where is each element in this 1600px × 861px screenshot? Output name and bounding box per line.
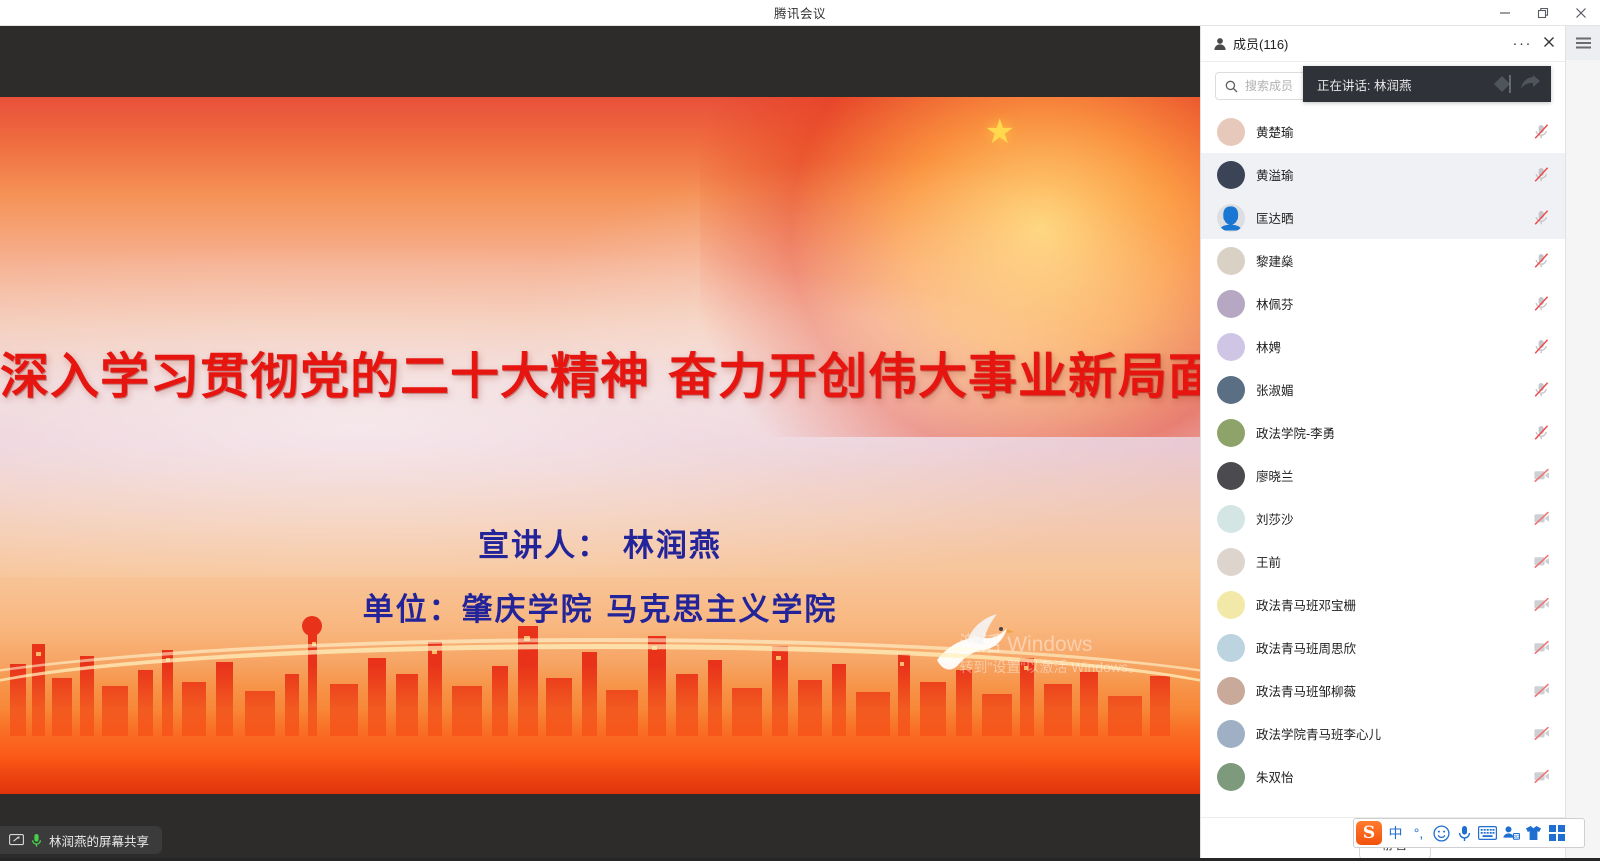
- avatar: [1217, 548, 1245, 576]
- mic-muted-icon[interactable]: [1533, 424, 1551, 442]
- avatar: [1217, 161, 1245, 189]
- ime-skin-button[interactable]: [1524, 821, 1543, 845]
- speaking-indicator-overlay: 正在讲话: 林润燕: [1303, 66, 1551, 102]
- participant-row[interactable]: 张淑媚: [1201, 368, 1565, 411]
- camera-off-icon[interactable]: [1533, 510, 1551, 528]
- participants-panel: 成员(116) ··· 黄楚瑜: [1200, 26, 1565, 861]
- camera-off-icon[interactable]: [1533, 596, 1551, 614]
- participant-row[interactable]: 政法青马班邓宝栅: [1201, 583, 1565, 626]
- participant-row[interactable]: 廖晓兰: [1201, 454, 1565, 497]
- avatar: [1217, 376, 1245, 404]
- person-icon: [1213, 37, 1227, 51]
- camera-off-icon[interactable]: [1533, 725, 1551, 743]
- participant-name: 政法青马班邹柳薇: [1256, 681, 1356, 700]
- right-side-strip: [1565, 26, 1600, 861]
- participant-row[interactable]: 林佩芬: [1201, 282, 1565, 325]
- sogou-logo-icon[interactable]: S: [1356, 821, 1382, 845]
- window-title: 腾讯会议: [774, 3, 826, 22]
- avatar: [1217, 763, 1245, 791]
- restore-button[interactable]: [1524, 0, 1562, 26]
- participant-row[interactable]: 政法青马班邹柳薇: [1201, 669, 1565, 712]
- mic-muted-icon[interactable]: [1533, 381, 1551, 399]
- slide-swoosh-2: [0, 638, 1200, 788]
- speaking-text: 正在讲话: 林润燕: [1317, 75, 1411, 94]
- participant-row[interactable]: 黎建燊: [1201, 239, 1565, 282]
- camera-off-icon[interactable]: [1533, 639, 1551, 657]
- participant-row[interactable]: 政法学院青马班李心儿: [1201, 712, 1565, 755]
- camera-off-icon[interactable]: [1533, 682, 1551, 700]
- camera-off-icon[interactable]: [1533, 768, 1551, 786]
- avatar: [1217, 247, 1245, 275]
- participant-row[interactable]: 林娉: [1201, 325, 1565, 368]
- participant-row[interactable]: 黄溢瑜: [1201, 153, 1565, 196]
- participant-name: 政法青马班邓宝栅: [1256, 595, 1356, 614]
- participant-name: 王前: [1256, 552, 1281, 571]
- avatar: [1217, 505, 1245, 533]
- hamburger-icon[interactable]: [1566, 26, 1600, 60]
- mic-muted-icon[interactable]: [1533, 123, 1551, 141]
- slide-mist-decoration-2: [520, 157, 1200, 477]
- panel-header-actions: ···: [1513, 35, 1556, 53]
- avatar: [1217, 677, 1245, 705]
- ime-user-profile-button[interactable]: 2D: [1501, 821, 1520, 845]
- microphone-icon: [31, 833, 42, 848]
- mic-muted-icon[interactable]: [1533, 166, 1551, 184]
- presentation-slide: ★ 深入学习贯彻党的二十大精神 奋力开创伟大事业新局面 宣讲人： 林润燕 单位：…: [0, 97, 1200, 794]
- speaking-overlay-icons: [1489, 71, 1543, 97]
- avatar: [1217, 118, 1245, 146]
- ime-voice-input-button[interactable]: [1455, 821, 1474, 845]
- avatar: 👤: [1217, 204, 1245, 232]
- participant-name: 政法学院青马班李心儿: [1256, 724, 1381, 743]
- participant-name: 黎建燊: [1256, 251, 1294, 270]
- minimize-button[interactable]: [1486, 0, 1524, 26]
- star-icon: ★: [985, 115, 1015, 149]
- ime-toolbox-button[interactable]: [1547, 821, 1566, 845]
- svg-text:2D: 2D: [1513, 834, 1519, 839]
- mic-muted-icon[interactable]: [1533, 209, 1551, 227]
- avatar: [1217, 290, 1245, 318]
- mic-muted-icon[interactable]: [1533, 295, 1551, 313]
- meeting-window: 腾讯会议 ★ 深入: [0, 0, 1600, 861]
- participant-name: 匡达晒: [1256, 208, 1294, 227]
- avatar: [1217, 462, 1245, 490]
- avatar: [1217, 333, 1245, 361]
- participant-row[interactable]: 👤匡达晒: [1201, 196, 1565, 239]
- participant-row[interactable]: 王前: [1201, 540, 1565, 583]
- ime-chinese-mode-button[interactable]: 中: [1386, 821, 1405, 845]
- collapse-arrow-icon[interactable]: [1489, 71, 1515, 97]
- ime-soft-keyboard-button[interactable]: [1478, 821, 1497, 845]
- screen-share-icon: [9, 834, 24, 847]
- search-icon: [1225, 80, 1238, 93]
- participant-name: 刘莎沙: [1256, 509, 1294, 528]
- avatar: [1217, 591, 1245, 619]
- participant-row[interactable]: 政法学院-李勇: [1201, 411, 1565, 454]
- ime-emoji-button[interactable]: [1432, 821, 1451, 845]
- participant-name: 廖晓兰: [1256, 466, 1294, 485]
- panel-close-button[interactable]: [1543, 35, 1555, 53]
- slide-speaker-line: 宣讲人： 林润燕: [0, 520, 1200, 565]
- participant-name: 张淑媚: [1256, 380, 1294, 399]
- participant-row[interactable]: 朱双怡: [1201, 755, 1565, 798]
- participants-list[interactable]: 黄楚瑜 黄溢瑜 👤匡达晒 黎建燊 林佩芬 林娉: [1201, 110, 1565, 817]
- back-arrow-icon[interactable]: [1517, 71, 1543, 97]
- participant-name: 林娉: [1256, 337, 1281, 356]
- participants-count-title: 成员(116): [1233, 34, 1288, 53]
- ime-toolbar[interactable]: S 中 °,: [1353, 818, 1585, 848]
- share-label: 林润燕的屏幕共享: [49, 831, 149, 850]
- participant-name: 黄溢瑜: [1256, 165, 1294, 184]
- avatar: [1217, 720, 1245, 748]
- window-controls: [1486, 0, 1600, 26]
- participant-row[interactable]: 刘莎沙: [1201, 497, 1565, 540]
- more-options-button[interactable]: ···: [1513, 36, 1533, 51]
- camera-off-icon[interactable]: [1533, 553, 1551, 571]
- mic-muted-icon[interactable]: [1533, 338, 1551, 356]
- slide-headline: 深入学习贯彻党的二十大精神 奋力开创伟大事业新局面: [0, 337, 1200, 408]
- title-bar: 腾讯会议: [0, 0, 1600, 26]
- participant-name: 黄楚瑜: [1256, 122, 1294, 141]
- participant-name: 政法学院-李勇: [1256, 423, 1335, 442]
- shared-screen-stage[interactable]: ★ 深入学习贯彻党的二十大精神 奋力开创伟大事业新局面 宣讲人： 林润燕 单位：…: [0, 26, 1200, 861]
- participants-panel-header: 成员(116) ···: [1201, 26, 1565, 62]
- ime-punctuation-button[interactable]: °,: [1409, 821, 1428, 845]
- participant-row[interactable]: 黄楚瑜: [1201, 110, 1565, 153]
- participant-name: 政法青马班周思欣: [1256, 638, 1356, 657]
- participant-row[interactable]: 政法青马班周思欣: [1201, 626, 1565, 669]
- camera-off-icon[interactable]: [1533, 467, 1551, 485]
- avatar: [1217, 634, 1245, 662]
- avatar: [1217, 419, 1245, 447]
- participant-name: 林佩芬: [1256, 294, 1294, 313]
- mic-muted-icon[interactable]: [1533, 252, 1551, 270]
- close-button[interactable]: [1562, 0, 1600, 26]
- screen-share-indicator[interactable]: 林润燕的屏幕共享: [0, 826, 162, 854]
- participant-name: 朱双怡: [1256, 767, 1294, 786]
